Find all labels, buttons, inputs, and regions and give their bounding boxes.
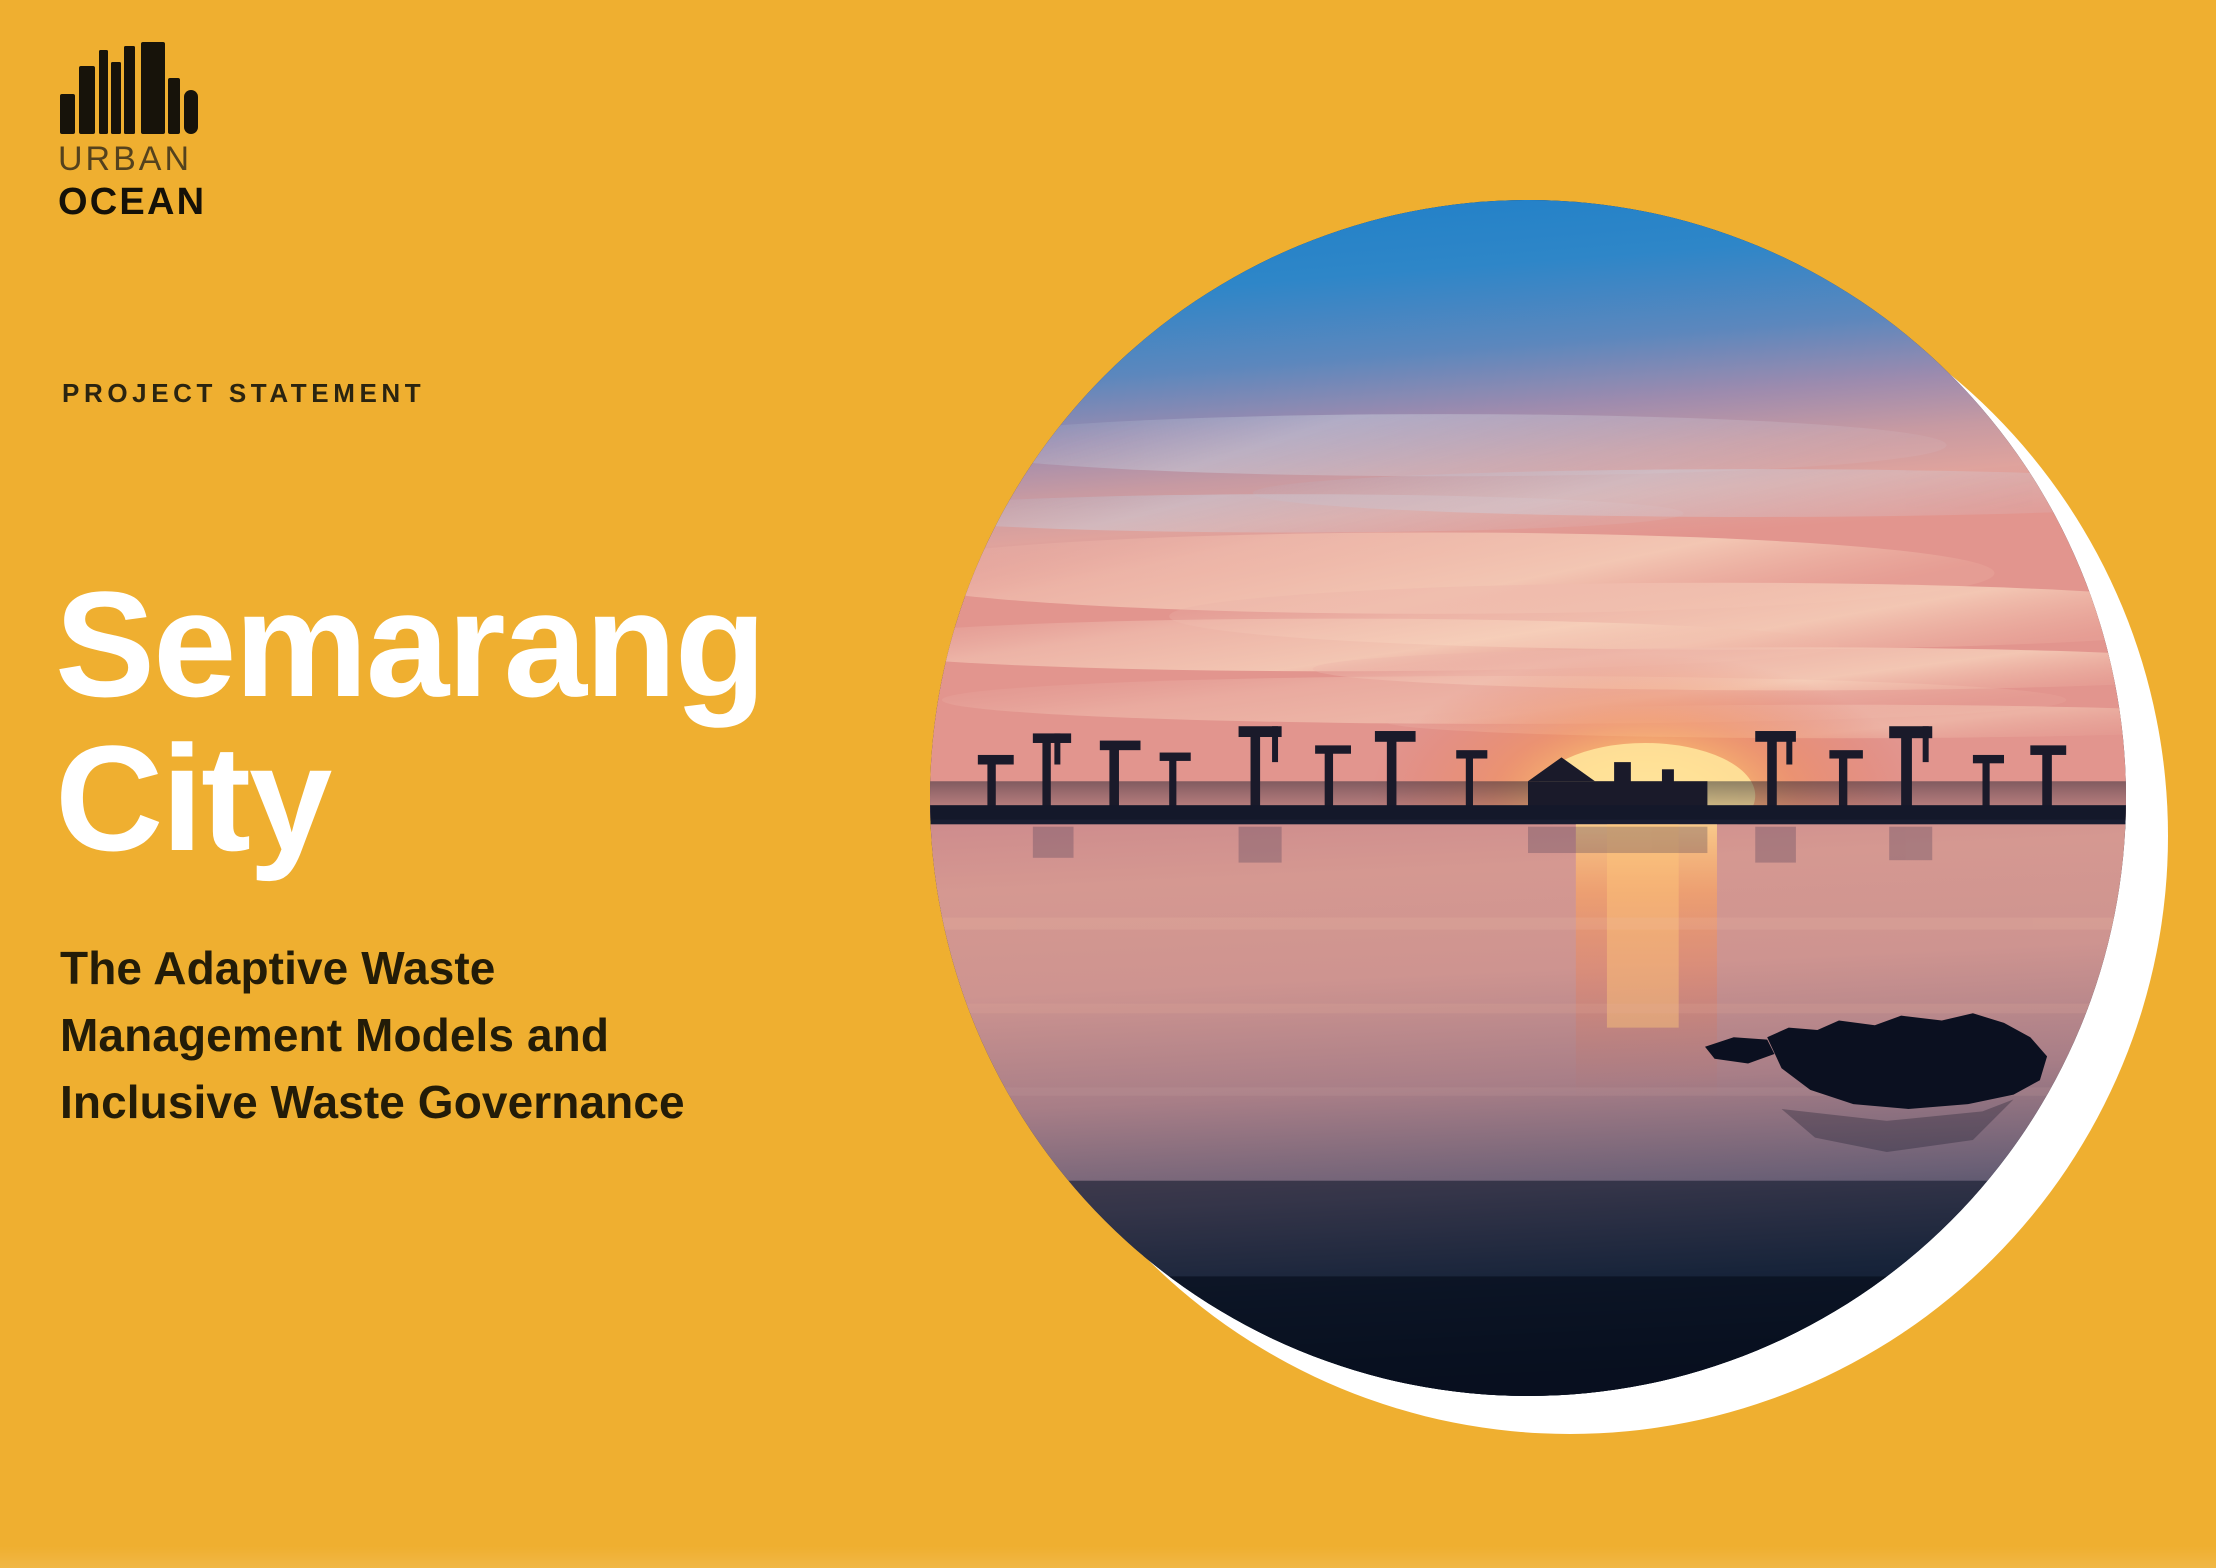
page-title-line-2: City <box>55 721 1055 876</box>
cover-page: URBAN OCEAN PROJECT STATEMENT Semarang C… <box>0 0 2216 1568</box>
logo-word-ocean: OCEAN <box>58 183 358 221</box>
page-subtitle-line-1: The Adaptive Waste <box>60 935 960 1002</box>
page-subtitle-line-3: Inclusive Waste Governance <box>60 1069 960 1136</box>
logo-word-urban: URBAN <box>58 142 358 176</box>
semarang-harbor-sunset-photo <box>930 200 2126 1396</box>
urban-ocean-logo[interactable]: URBAN OCEAN <box>58 32 358 221</box>
logo-wordmark: URBAN OCEAN <box>58 142 358 221</box>
cover-photo-group <box>930 200 2180 1490</box>
city-skyline-icon <box>58 32 210 136</box>
bottom-sheen <box>0 1546 2216 1568</box>
page-subtitle: The Adaptive Waste Management Models and… <box>60 935 960 1136</box>
eyebrow-label: PROJECT STATEMENT <box>62 378 425 409</box>
page-title: Semarang City <box>55 567 1055 876</box>
page-title-line-1: Semarang <box>55 567 1055 722</box>
page-subtitle-line-2: Management Models and <box>60 1002 960 1069</box>
